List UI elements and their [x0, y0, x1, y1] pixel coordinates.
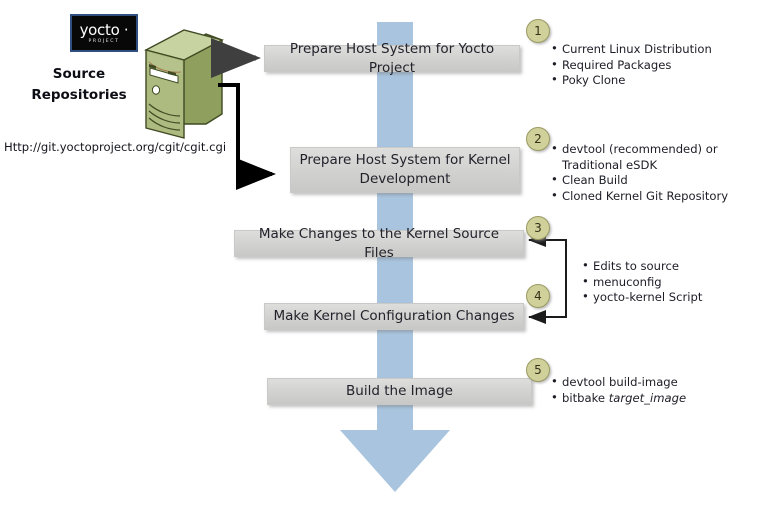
- logo-subtext: PROJECT: [88, 39, 119, 44]
- list-item-emphasis: target_image: [609, 391, 686, 405]
- process-box-step-4[interactable]: Make Kernel Configuration Changes: [264, 303, 524, 330]
- logo-wordmark: yocto ·: [80, 23, 129, 37]
- source-repositories-label: Source Repositories: [14, 64, 144, 106]
- process-box-step-3[interactable]: Make Changes to the Kernel Source Files: [234, 230, 524, 257]
- bullet-list-step-1: Current Linux Distribution Required Pack…: [551, 42, 763, 89]
- step-badge-1: 1: [526, 19, 550, 43]
- list-item: Required Packages: [551, 58, 763, 74]
- list-item: menuconfig: [582, 275, 762, 291]
- bullet-list-step-2: devtool (recommended) or Traditional eSD…: [551, 142, 763, 204]
- step-badge-3: 3: [526, 216, 550, 240]
- list-item-label: bitbake: [562, 391, 609, 405]
- list-item: Current Linux Distribution: [551, 42, 763, 58]
- process-box-step-2[interactable]: Prepare Host System for Kernel Developme…: [290, 147, 520, 193]
- server-tower-icon: [138, 26, 224, 142]
- list-item: Cloned Kernel Git Repository: [551, 189, 763, 205]
- list-item: Poky Clone: [551, 73, 763, 89]
- source-repositories-url: Http://git.yoctoproject.org/cgit/cgit.cg…: [4, 140, 226, 154]
- list-item: Edits to source: [582, 259, 762, 275]
- flow-spine-arrowhead: [340, 430, 450, 492]
- list-item: devtool (recommended) or Traditional eSD…: [551, 142, 763, 173]
- process-box-step-1[interactable]: Prepare Host System for Yocto Project: [264, 45, 520, 72]
- process-box-step-5[interactable]: Build the Image: [267, 378, 532, 405]
- step-badge-4: 4: [526, 284, 550, 308]
- step-badge-2: 2: [526, 127, 550, 151]
- list-item: Clean Build: [551, 173, 763, 189]
- yocto-project-logo: yocto · PROJECT: [70, 14, 138, 52]
- list-item: bitbake target_image: [551, 391, 763, 407]
- diagram-canvas: yocto · PROJECT Source Repositories Http…: [0, 0, 769, 517]
- list-item-label: devtool build-image: [562, 375, 678, 389]
- list-item: yocto-kernel Script: [582, 290, 762, 306]
- step-badge-5: 5: [526, 358, 550, 382]
- list-item: devtool build-image: [551, 375, 763, 391]
- bullet-list-steps-3-4: Edits to source menuconfig yocto-kernel …: [582, 259, 762, 306]
- bullet-list-step-5: devtool build-image bitbake target_image: [551, 375, 763, 406]
